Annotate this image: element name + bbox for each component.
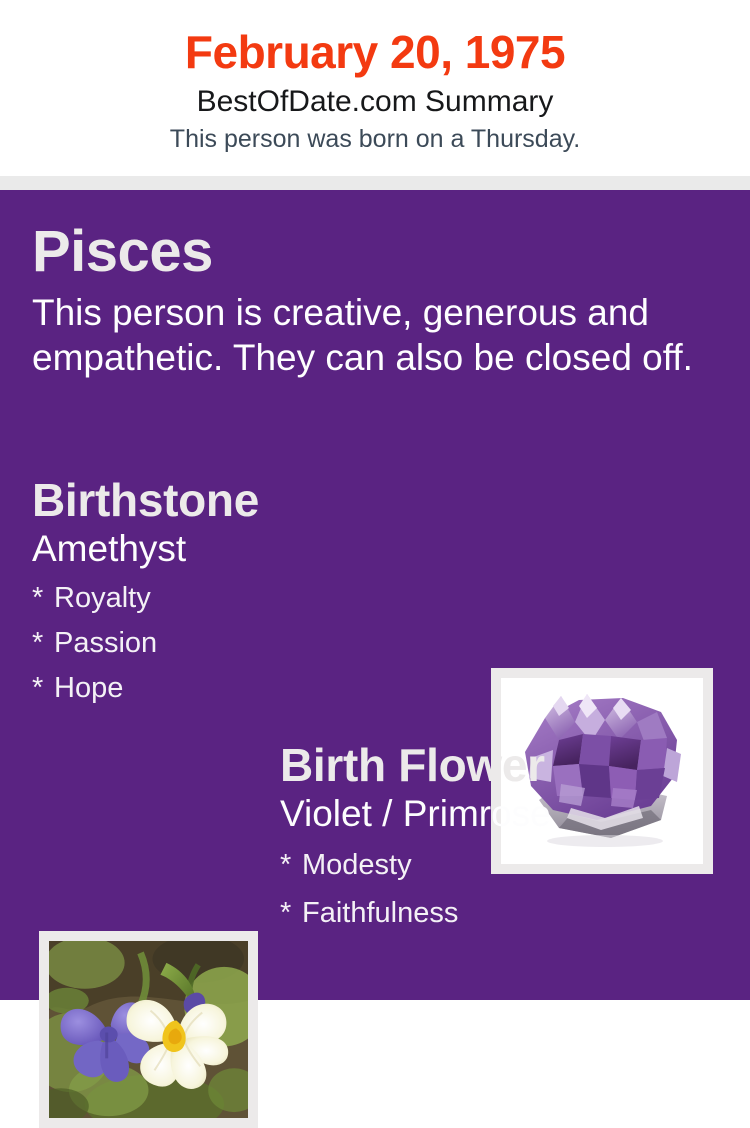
- birth-flower-name: Violet / Primrose: [280, 792, 740, 835]
- list-item: *Faithfulness: [280, 889, 740, 937]
- content-panel: Pisces This person is creative, generous…: [0, 190, 750, 1000]
- site-subtitle: BestOfDate.com Summary: [0, 80, 750, 121]
- summary-card: February 20, 1975 BestOfDate.com Summary…: [0, 0, 750, 1000]
- birthstone-trait-list: *Royalty *Passion *Hope: [32, 570, 472, 711]
- birth-flower-title: Birth Flower: [280, 738, 740, 792]
- zodiac-description: This person is creative, generous and em…: [32, 284, 704, 380]
- birthstone-name: Amethyst: [32, 527, 472, 570]
- list-item-label: Passion: [54, 627, 157, 659]
- list-item: *Hope: [32, 666, 472, 711]
- header: February 20, 1975 BestOfDate.com Summary…: [0, 0, 750, 176]
- birth-flower-section: Birth Flower Violet / Primrose *Modesty …: [280, 738, 740, 937]
- list-item-label: Royalty: [54, 582, 151, 614]
- birth-flower-trait-list: *Modesty *Faithfulness: [280, 835, 740, 937]
- list-item: *Royalty: [32, 576, 472, 621]
- birthstone-title: Birthstone: [32, 473, 472, 527]
- list-item: *Passion: [32, 621, 472, 666]
- zodiac-sign-title: Pisces: [32, 220, 712, 284]
- asterisk-icon: *: [280, 841, 302, 889]
- asterisk-icon: *: [32, 621, 54, 666]
- violet-primrose-icon: [49, 941, 248, 1118]
- zodiac-section: Pisces This person is creative, generous…: [32, 220, 712, 380]
- list-item: *Modesty: [280, 841, 740, 889]
- asterisk-icon: *: [280, 889, 302, 937]
- list-item-label: Faithfulness: [302, 897, 458, 929]
- page-title: February 20, 1975: [0, 0, 750, 80]
- birthstone-section: Birthstone Amethyst *Royalty *Passion *H…: [32, 473, 472, 711]
- asterisk-icon: *: [32, 666, 54, 711]
- header-divider: [0, 176, 750, 190]
- list-item-label: Hope: [54, 672, 123, 704]
- asterisk-icon: *: [32, 576, 54, 621]
- birth-flower-image-frame: [39, 931, 258, 1128]
- weekday-note: This person was born on a Thursday.: [0, 121, 750, 155]
- birth-flower-image: [49, 941, 248, 1118]
- list-item-label: Modesty: [302, 849, 412, 881]
